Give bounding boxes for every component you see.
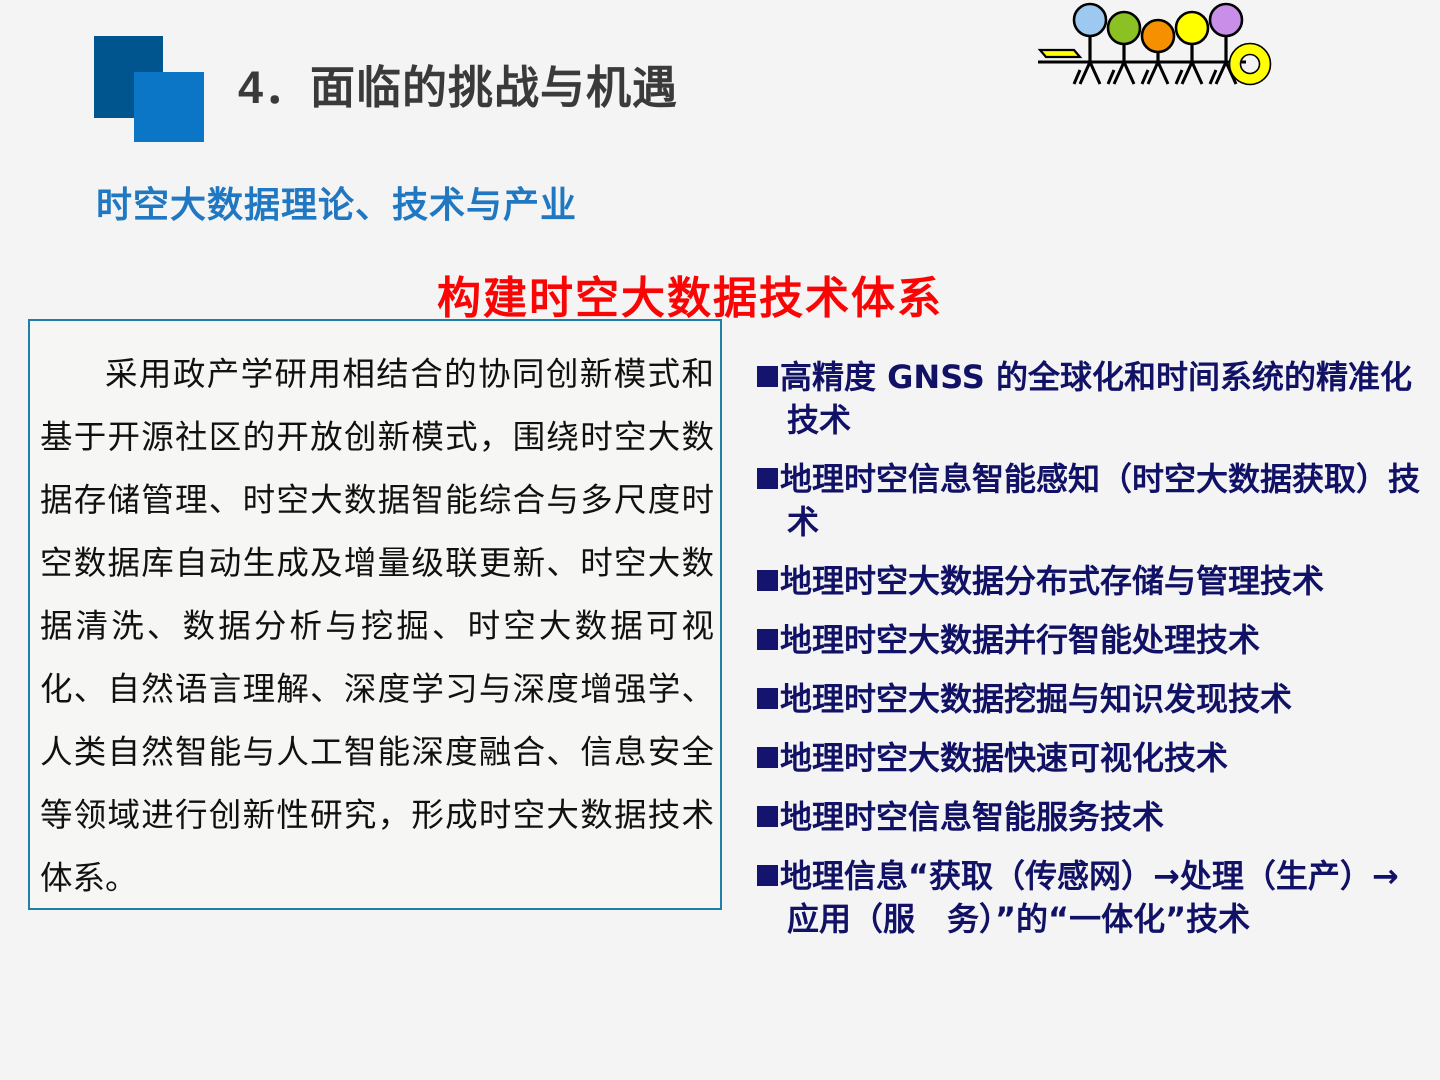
list-item: 地理时空大数据挖掘与知识发现技术 — [757, 678, 1429, 721]
square-bullet-icon — [757, 865, 778, 886]
spacer — [757, 544, 1429, 560]
logo-mark — [94, 36, 224, 142]
slide-canvas: 4．面临的挑战与机遇 时空大数据理论、技术与产业 构建时空大数据技术体系 采用政… — [0, 0, 1440, 1080]
list-item: 地理信息“获取（传感网）→处理（生产）→应用（服 务）”的“一体化”技术 — [757, 855, 1429, 941]
square-bullet-icon — [757, 747, 778, 768]
spacer — [757, 662, 1429, 678]
square-bullet-icon — [757, 629, 778, 650]
section-heading: 构建时空大数据技术体系 — [437, 262, 943, 326]
square-bullet-icon — [757, 366, 778, 387]
list-item: 地理时空大数据分布式存储与管理技术 — [757, 560, 1429, 603]
spacer — [757, 780, 1429, 796]
spacer — [757, 839, 1429, 855]
list-item-label: 地理时空信息智能感知（时空大数据获取）技术 — [780, 460, 1420, 541]
list-item-label: 高精度 GNSS 的全球化和时间系统的精准化技术 — [780, 358, 1412, 439]
list-item-label: 地理时空信息智能服务技术 — [780, 798, 1164, 836]
list-item: 地理时空信息智能服务技术 — [757, 796, 1429, 839]
list-item: 高精度 GNSS 的全球化和时间系统的精准化技术 — [757, 356, 1429, 442]
square-bullet-icon — [757, 468, 778, 489]
body-text-box: 采用政产学研用相结合的协同创新模式和基于开源社区的开放创新模式，围绕时空大数据存… — [28, 319, 722, 910]
list-item-label: 地理时空大数据挖掘与知识发现技术 — [780, 680, 1292, 718]
list-item-label: 地理信息“获取（传感网）→处理（生产）→应用（服 务）”的“一体化”技术 — [780, 857, 1399, 938]
spacer — [757, 603, 1429, 619]
square-bullet-icon — [757, 570, 778, 591]
logo-square-light-icon — [134, 72, 204, 142]
list-item: 地理时空大数据快速可视化技术 — [757, 737, 1429, 780]
technology-bullet-list: 高精度 GNSS 的全球化和时间系统的精准化技术 地理时空信息智能感知（时空大数… — [757, 356, 1429, 941]
list-item: 地理时空信息智能感知（时空大数据获取）技术 — [757, 458, 1429, 544]
page-title: 4．面临的挑战与机遇 — [238, 62, 678, 114]
spacer — [757, 721, 1429, 737]
stick-figures-decoration — [1034, 0, 1324, 120]
page-subtitle: 时空大数据理论、技术与产业 — [96, 176, 577, 228]
list-item-label: 地理时空大数据快速可视化技术 — [780, 739, 1228, 777]
list-item: 地理时空大数据并行智能处理技术 — [757, 619, 1429, 662]
stick-figures-icon — [1034, 0, 1324, 120]
square-bullet-icon — [757, 688, 778, 709]
list-item-label: 地理时空大数据分布式存储与管理技术 — [780, 562, 1324, 600]
body-paragraph: 采用政产学研用相结合的协同创新模式和基于开源社区的开放创新模式，围绕时空大数据存… — [40, 343, 714, 910]
spacer — [757, 442, 1429, 458]
square-bullet-icon — [757, 806, 778, 827]
list-item-label: 地理时空大数据并行智能处理技术 — [780, 621, 1260, 659]
